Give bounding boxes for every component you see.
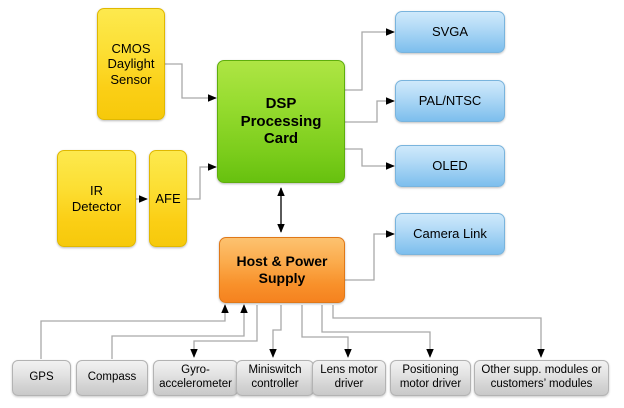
wire-host-to-cameralink xyxy=(345,234,394,280)
node-label-other-supp-modules: Other supp. modules or customers’ module… xyxy=(475,364,608,391)
node-label-positioning-motor-driver: Positioning motor driver xyxy=(391,364,470,391)
node-miniswitch-controller[interactable]: Miniswitch controller xyxy=(236,360,314,396)
node-label-ir-detector: IR Detector xyxy=(58,183,135,214)
node-host-power-supply[interactable]: Host & Power Supply xyxy=(219,237,345,303)
node-svga[interactable]: SVGA xyxy=(395,11,505,53)
node-compass[interactable]: Compass xyxy=(76,360,148,396)
node-label-host-power-supply: Host & Power Supply xyxy=(220,253,344,286)
wire-host-to-gyro xyxy=(194,305,257,357)
node-oled[interactable]: OLED xyxy=(395,145,505,187)
node-label-cmos-daylight-sensor: CMOS Daylight Sensor xyxy=(98,41,164,87)
node-label-dsp-processing-card: DSP Processing Card xyxy=(218,95,344,148)
node-label-afe: AFE xyxy=(150,191,186,206)
node-label-compass: Compass xyxy=(77,371,147,385)
node-label-lens-motor-driver: Lens motor driver xyxy=(313,364,385,391)
wire-compass-to-host xyxy=(112,305,244,359)
node-dsp-processing-card[interactable]: DSP Processing Card xyxy=(217,60,345,183)
node-ir-detector[interactable]: IR Detector xyxy=(57,150,136,247)
node-cmos-daylight-sensor[interactable]: CMOS Daylight Sensor xyxy=(97,8,165,120)
node-label-miniswitch-controller: Miniswitch controller xyxy=(237,364,313,391)
node-label-camera-link: Camera Link xyxy=(396,226,504,241)
node-gyro-accelerometer[interactable]: Gyro- accelerometer xyxy=(153,360,238,396)
node-label-gps: GPS xyxy=(13,371,70,385)
block-diagram-canvas: CMOS Daylight Sensor IR Detector AFE DSP… xyxy=(0,0,624,408)
wire-cmos-to-dsp xyxy=(165,64,216,98)
wire-afe-to-dsp xyxy=(187,167,216,199)
node-afe[interactable]: AFE xyxy=(149,150,187,247)
node-label-svga: SVGA xyxy=(396,24,504,39)
wire-host-to-positioning xyxy=(322,305,430,357)
node-label-oled: OLED xyxy=(396,158,504,173)
wire-gps-to-host xyxy=(41,305,225,359)
wire-host-to-lensmotor xyxy=(302,305,348,357)
node-label-gyro-accelerometer: Gyro- accelerometer xyxy=(154,364,237,391)
node-camera-link[interactable]: Camera Link xyxy=(395,213,505,255)
node-other-supp-modules[interactable]: Other supp. modules or customers’ module… xyxy=(474,360,609,396)
node-positioning-motor-driver[interactable]: Positioning motor driver xyxy=(390,360,471,396)
wire-dsp-to-svga xyxy=(345,32,394,90)
node-pal-ntsc[interactable]: PAL/NTSC xyxy=(395,80,505,122)
wire-host-to-miniswitch xyxy=(273,305,281,357)
node-label-pal-ntsc: PAL/NTSC xyxy=(396,93,504,108)
wire-host-to-othermodules xyxy=(333,305,541,357)
node-gps[interactable]: GPS xyxy=(12,360,71,396)
wire-dsp-to-oled xyxy=(345,149,394,166)
node-lens-motor-driver[interactable]: Lens motor driver xyxy=(312,360,386,396)
wire-dsp-to-palntsc xyxy=(345,101,394,122)
